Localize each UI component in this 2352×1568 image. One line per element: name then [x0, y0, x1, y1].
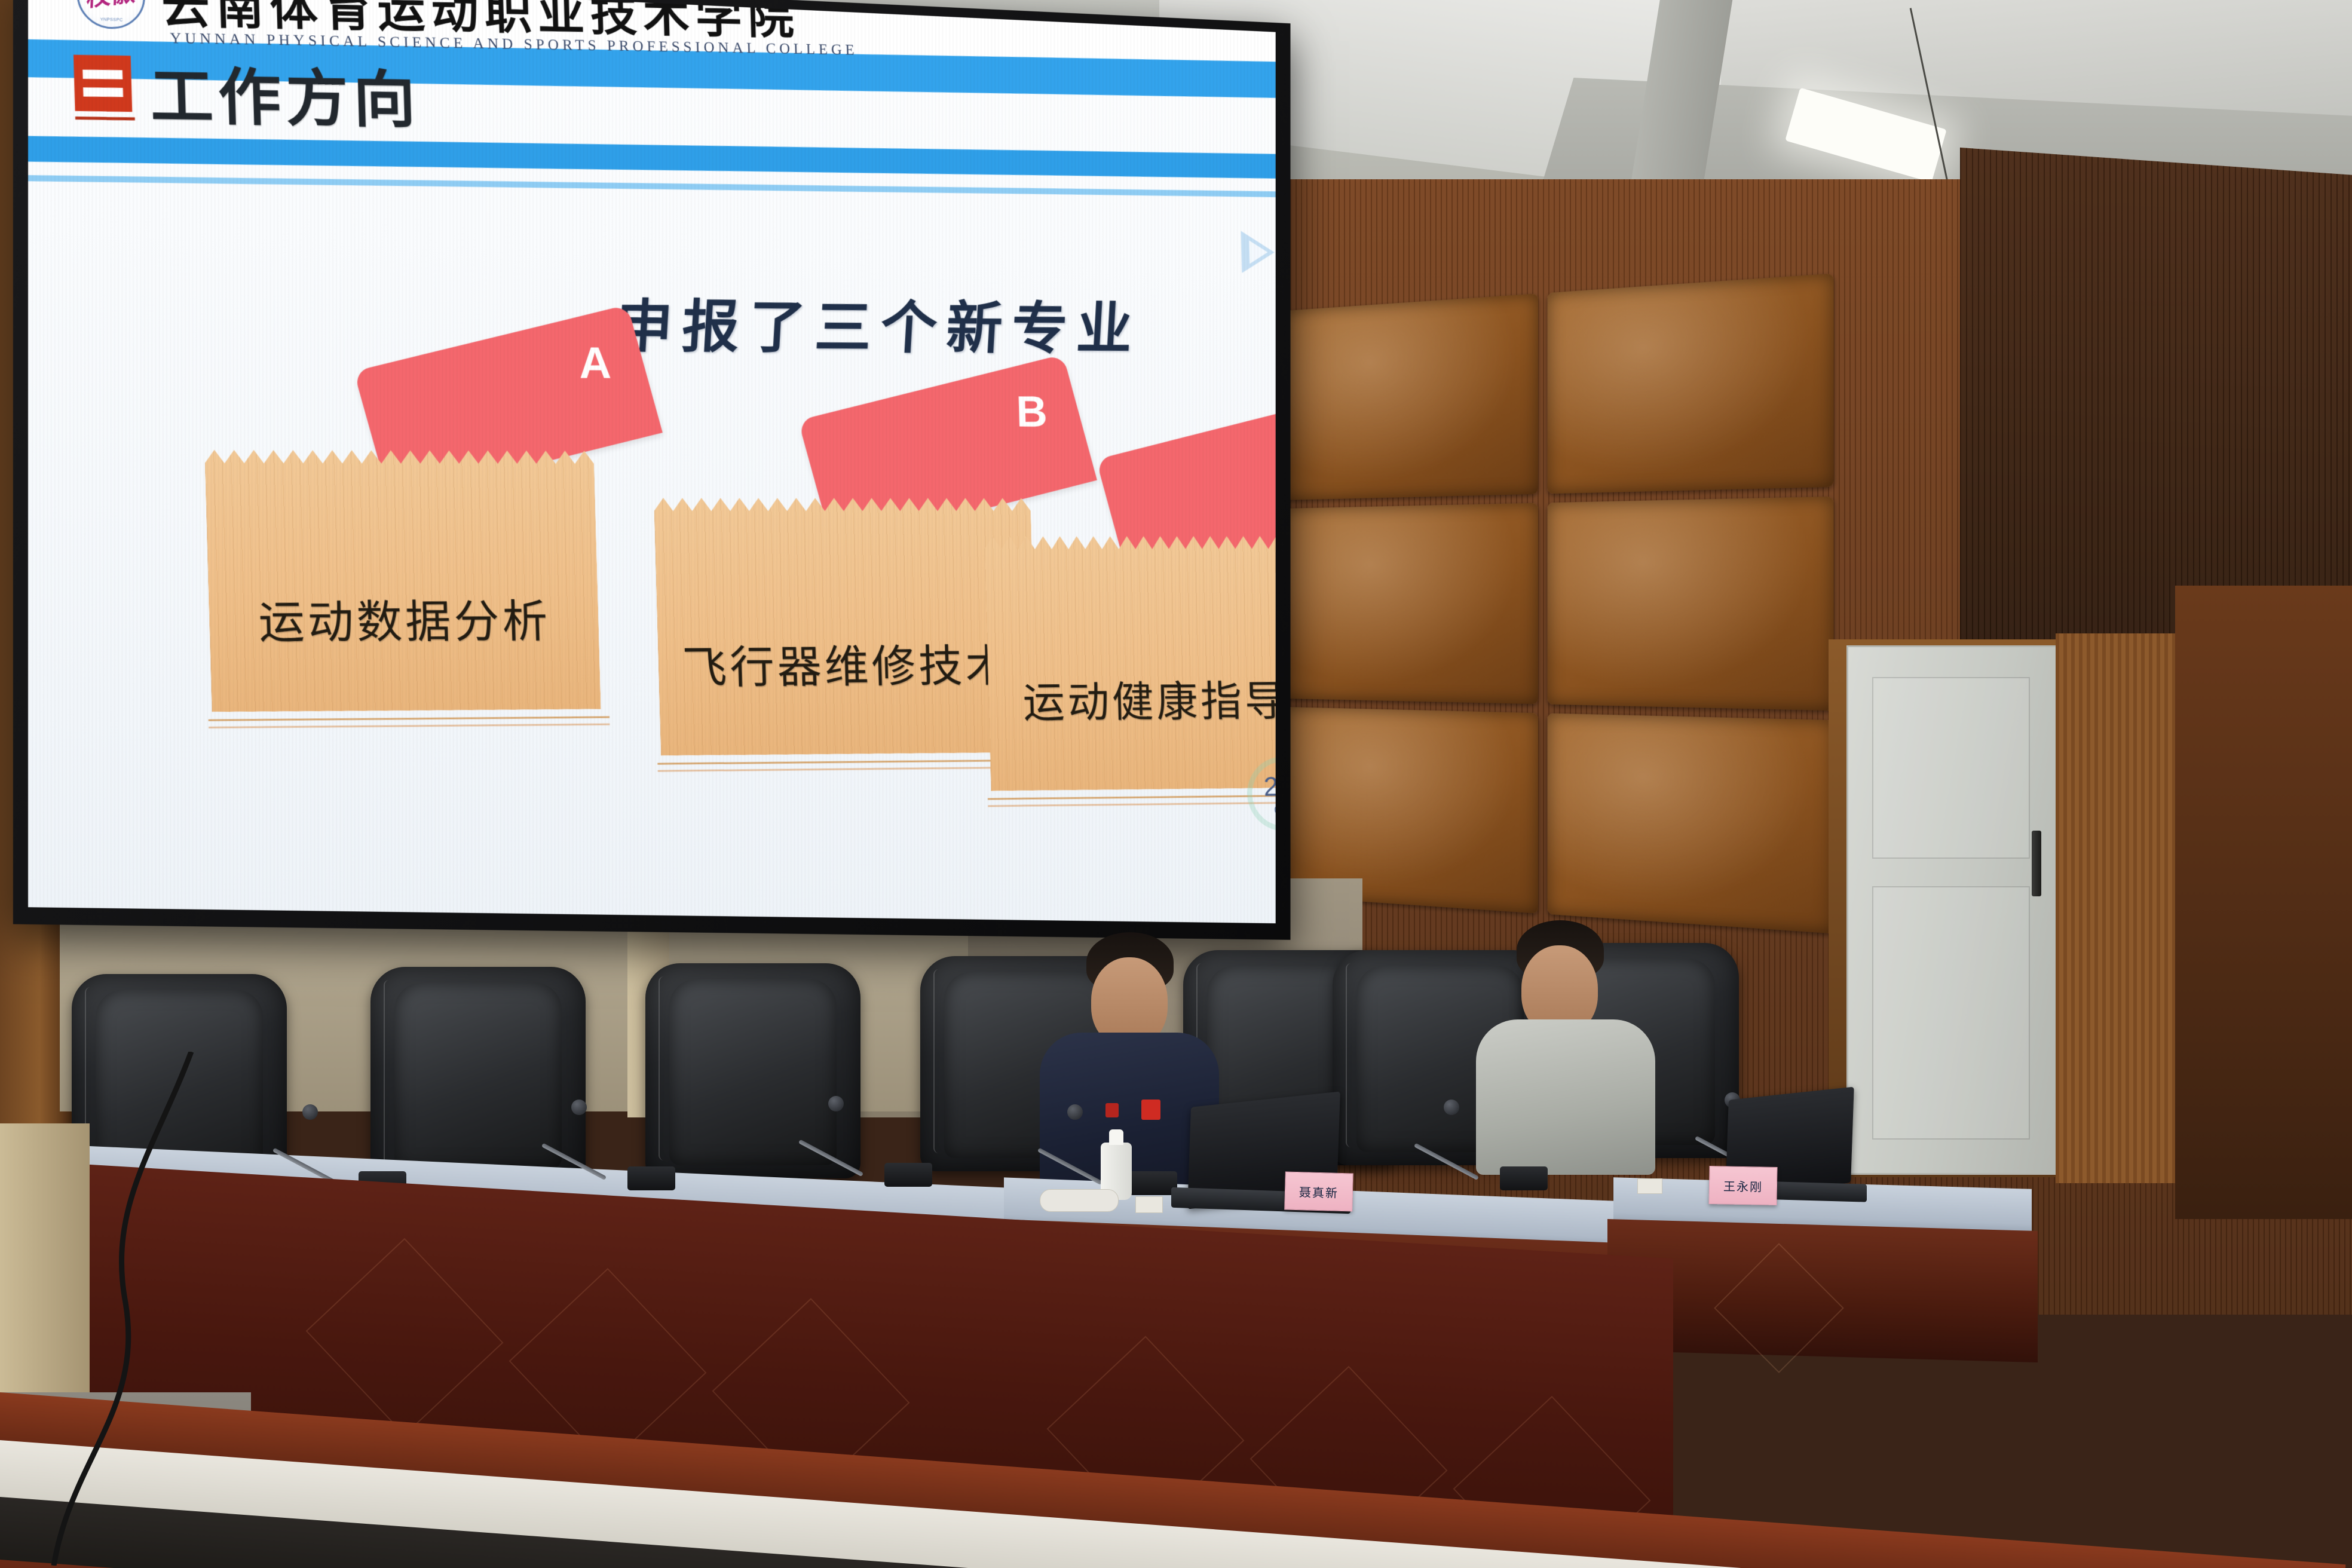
power-cable — [36, 1052, 275, 1566]
progress-percent: 22% — [1247, 770, 1276, 803]
microphone-head — [1444, 1100, 1459, 1115]
lapel-badge — [1105, 1103, 1119, 1117]
card-underline — [658, 766, 1046, 771]
acoustic-panel — [1285, 503, 1538, 704]
slide-card: C 运动健康指导 — [984, 531, 1275, 803]
progress-percent-value: 22 — [1263, 771, 1276, 801]
card-underline — [209, 716, 610, 721]
projection-screen-bezel: 校徽 YNPSSPC 云南体育运动职业技术学院 YUNNAN PHYSICAL … — [13, 0, 1291, 940]
acoustic-panel-wall — [1285, 273, 1834, 933]
cable-bundle — [1040, 1189, 1119, 1212]
stage-diamond — [306, 1238, 504, 1436]
screenshot-root: 校徽 YNPSSPC 云南体育运动职业技术学院 YUNNAN PHYSICAL … — [0, 0, 2352, 1568]
person-torso — [1476, 1019, 1655, 1175]
chair[interactable] — [645, 963, 860, 1178]
door-panel — [1872, 677, 2030, 859]
nameplate-right: 王永刚 — [1708, 1166, 1777, 1205]
desk-label-tag — [1637, 1178, 1662, 1194]
microphone-head — [828, 1096, 844, 1111]
acoustic-panel — [1548, 713, 1834, 933]
desk-label-tag — [1135, 1196, 1163, 1213]
progress-rate: 0K/s — [1247, 804, 1275, 816]
card-underline — [209, 724, 610, 728]
microphone-base — [627, 1166, 675, 1190]
wall-right-strip — [2175, 586, 2352, 1219]
travel-mug-lid — [1109, 1129, 1123, 1145]
card-letter: A — [578, 341, 612, 385]
microphone-base — [1500, 1166, 1548, 1190]
card-paper — [204, 445, 601, 712]
acoustic-panel — [1285, 293, 1538, 500]
card-underline — [657, 759, 1046, 765]
microphone-base — [884, 1163, 932, 1187]
projection-screen: 校徽 YNPSSPC 云南体育运动职业技术学院 YUNNAN PHYSICAL … — [28, 0, 1276, 923]
card-paper — [984, 531, 1275, 791]
card-label: 飞行器维修技术 — [657, 630, 1036, 697]
microphone-head — [571, 1100, 587, 1115]
microphone-head — [302, 1104, 318, 1120]
card-label: 运动健康指导 — [988, 666, 1276, 730]
slide-card: B 飞行器维修技术 — [654, 492, 1038, 767]
acoustic-panel — [1548, 273, 1834, 494]
download-progress-widget: 22% 0K/s — [1246, 756, 1275, 831]
microphone-base — [1129, 1171, 1177, 1195]
card-paper — [654, 492, 1037, 755]
card-letter: B — [1015, 390, 1048, 433]
card-underline — [988, 794, 1276, 800]
card-underline — [988, 801, 1275, 807]
acoustic-panel — [1548, 497, 1834, 710]
card-label: 运动数据分析 — [209, 584, 599, 652]
slide-card-group: A 运动数据分析 B 飞行器维修技术 — [28, 0, 1276, 908]
microphone-head — [1067, 1104, 1083, 1120]
slide-card: A 运动数据分析 — [204, 445, 601, 724]
nameplate-left: 聂真新 — [1284, 1172, 1353, 1212]
door-handle[interactable] — [2032, 831, 2041, 896]
lapel-badge — [1141, 1100, 1160, 1120]
